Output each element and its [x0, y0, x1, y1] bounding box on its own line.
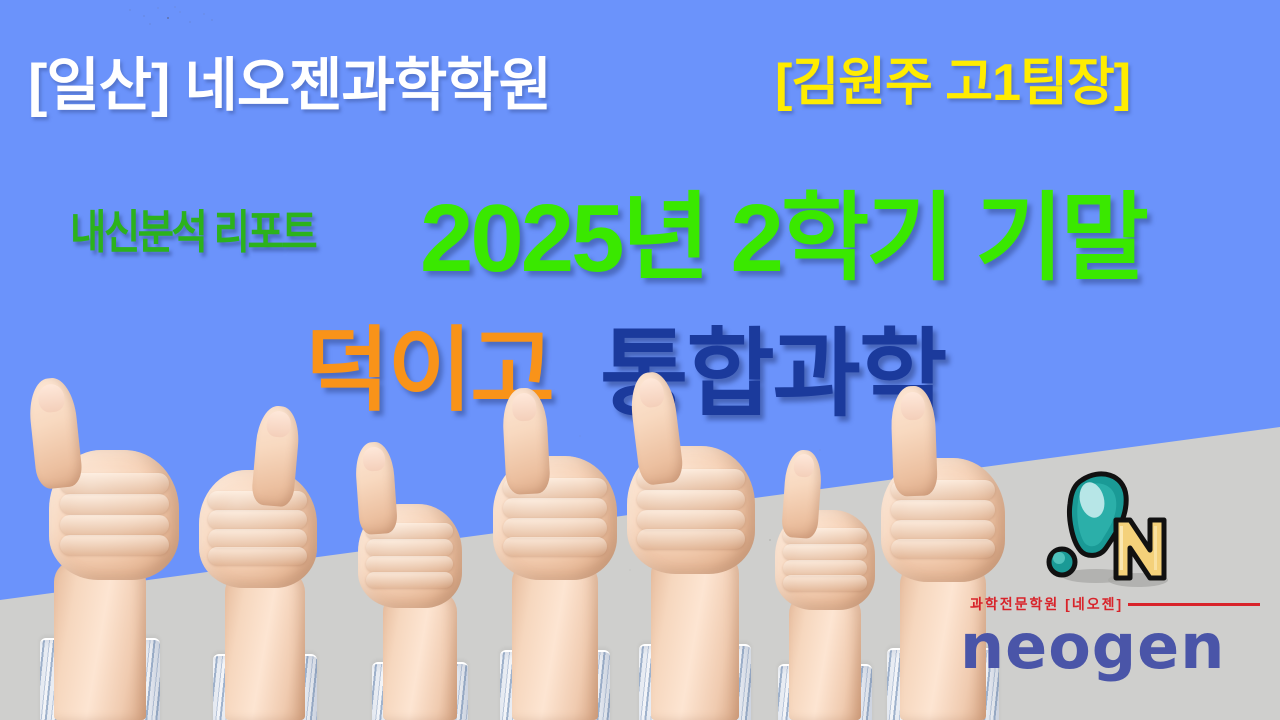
- term-title-text: 2025년 2학기 기말: [420, 160, 1146, 299]
- academy-name-text: [일산] 네오젠과학학원: [28, 38, 551, 122]
- thumbnail-nail: [362, 446, 385, 471]
- thumb: [501, 387, 550, 495]
- thumbnail-nail: [266, 410, 292, 438]
- forearm: [512, 560, 598, 720]
- neogen-logo-block: 과학전문학원 [네오젠] neogen: [960, 470, 1260, 690]
- report-type-text: 내신분석 리포트: [70, 196, 315, 262]
- term-row: 내신분석 리포트 2025년 2학기 기말: [0, 160, 1280, 280]
- thumbs-up-hand-1: [10, 420, 190, 720]
- forearm: [383, 590, 457, 720]
- thumbnail-nail: [638, 376, 666, 408]
- thumbnail-nail: [793, 454, 815, 478]
- forearm: [225, 570, 305, 720]
- thumbnail-nail: [511, 393, 537, 422]
- thumbnail-nail: [37, 382, 66, 413]
- header-row: [일산] 네오젠과학학원 [김원주 고1팀장]: [0, 38, 1280, 118]
- forearm: [54, 560, 146, 720]
- logo-divider-rule: [1128, 603, 1260, 606]
- neogen-exclamation-logo-icon: [1030, 470, 1180, 590]
- thumbnail-nail: [900, 391, 926, 420]
- teacher-name-text: [김원주 고1팀장]: [775, 40, 1130, 115]
- thumbs-up-hand-2: [175, 430, 355, 720]
- logo-wordmark-text: neogen: [960, 610, 1225, 683]
- forearm: [651, 552, 739, 720]
- thumb: [354, 441, 398, 535]
- knuckle-lines: [60, 473, 169, 554]
- thumb: [890, 385, 938, 496]
- poster-canvas: [일산] 네오젠과학학원 [김원주 고1팀장] 내신분석 리포트 2025년 2…: [0, 0, 1280, 720]
